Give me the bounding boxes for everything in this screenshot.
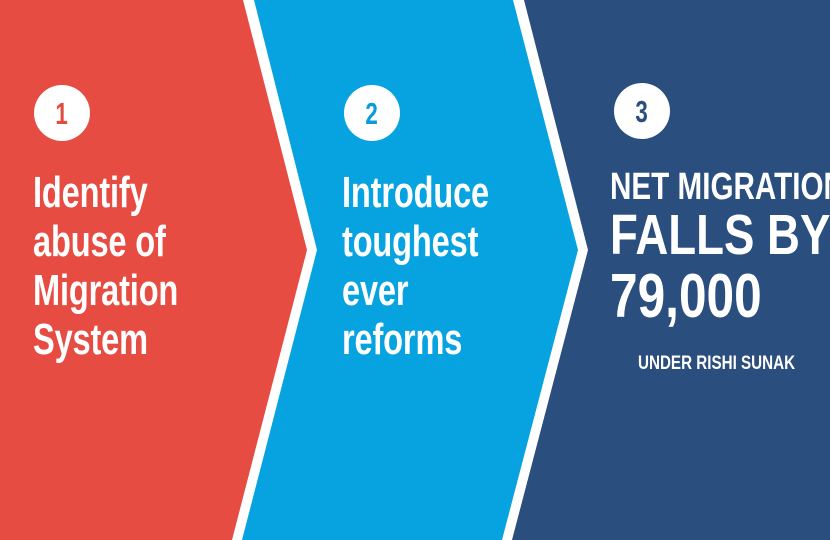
panel-shape-identify [0, 0, 307, 540]
panel-shapes [0, 0, 830, 540]
infographic-root: 1 Identify abuse of Migration System 2 I… [0, 0, 830, 540]
